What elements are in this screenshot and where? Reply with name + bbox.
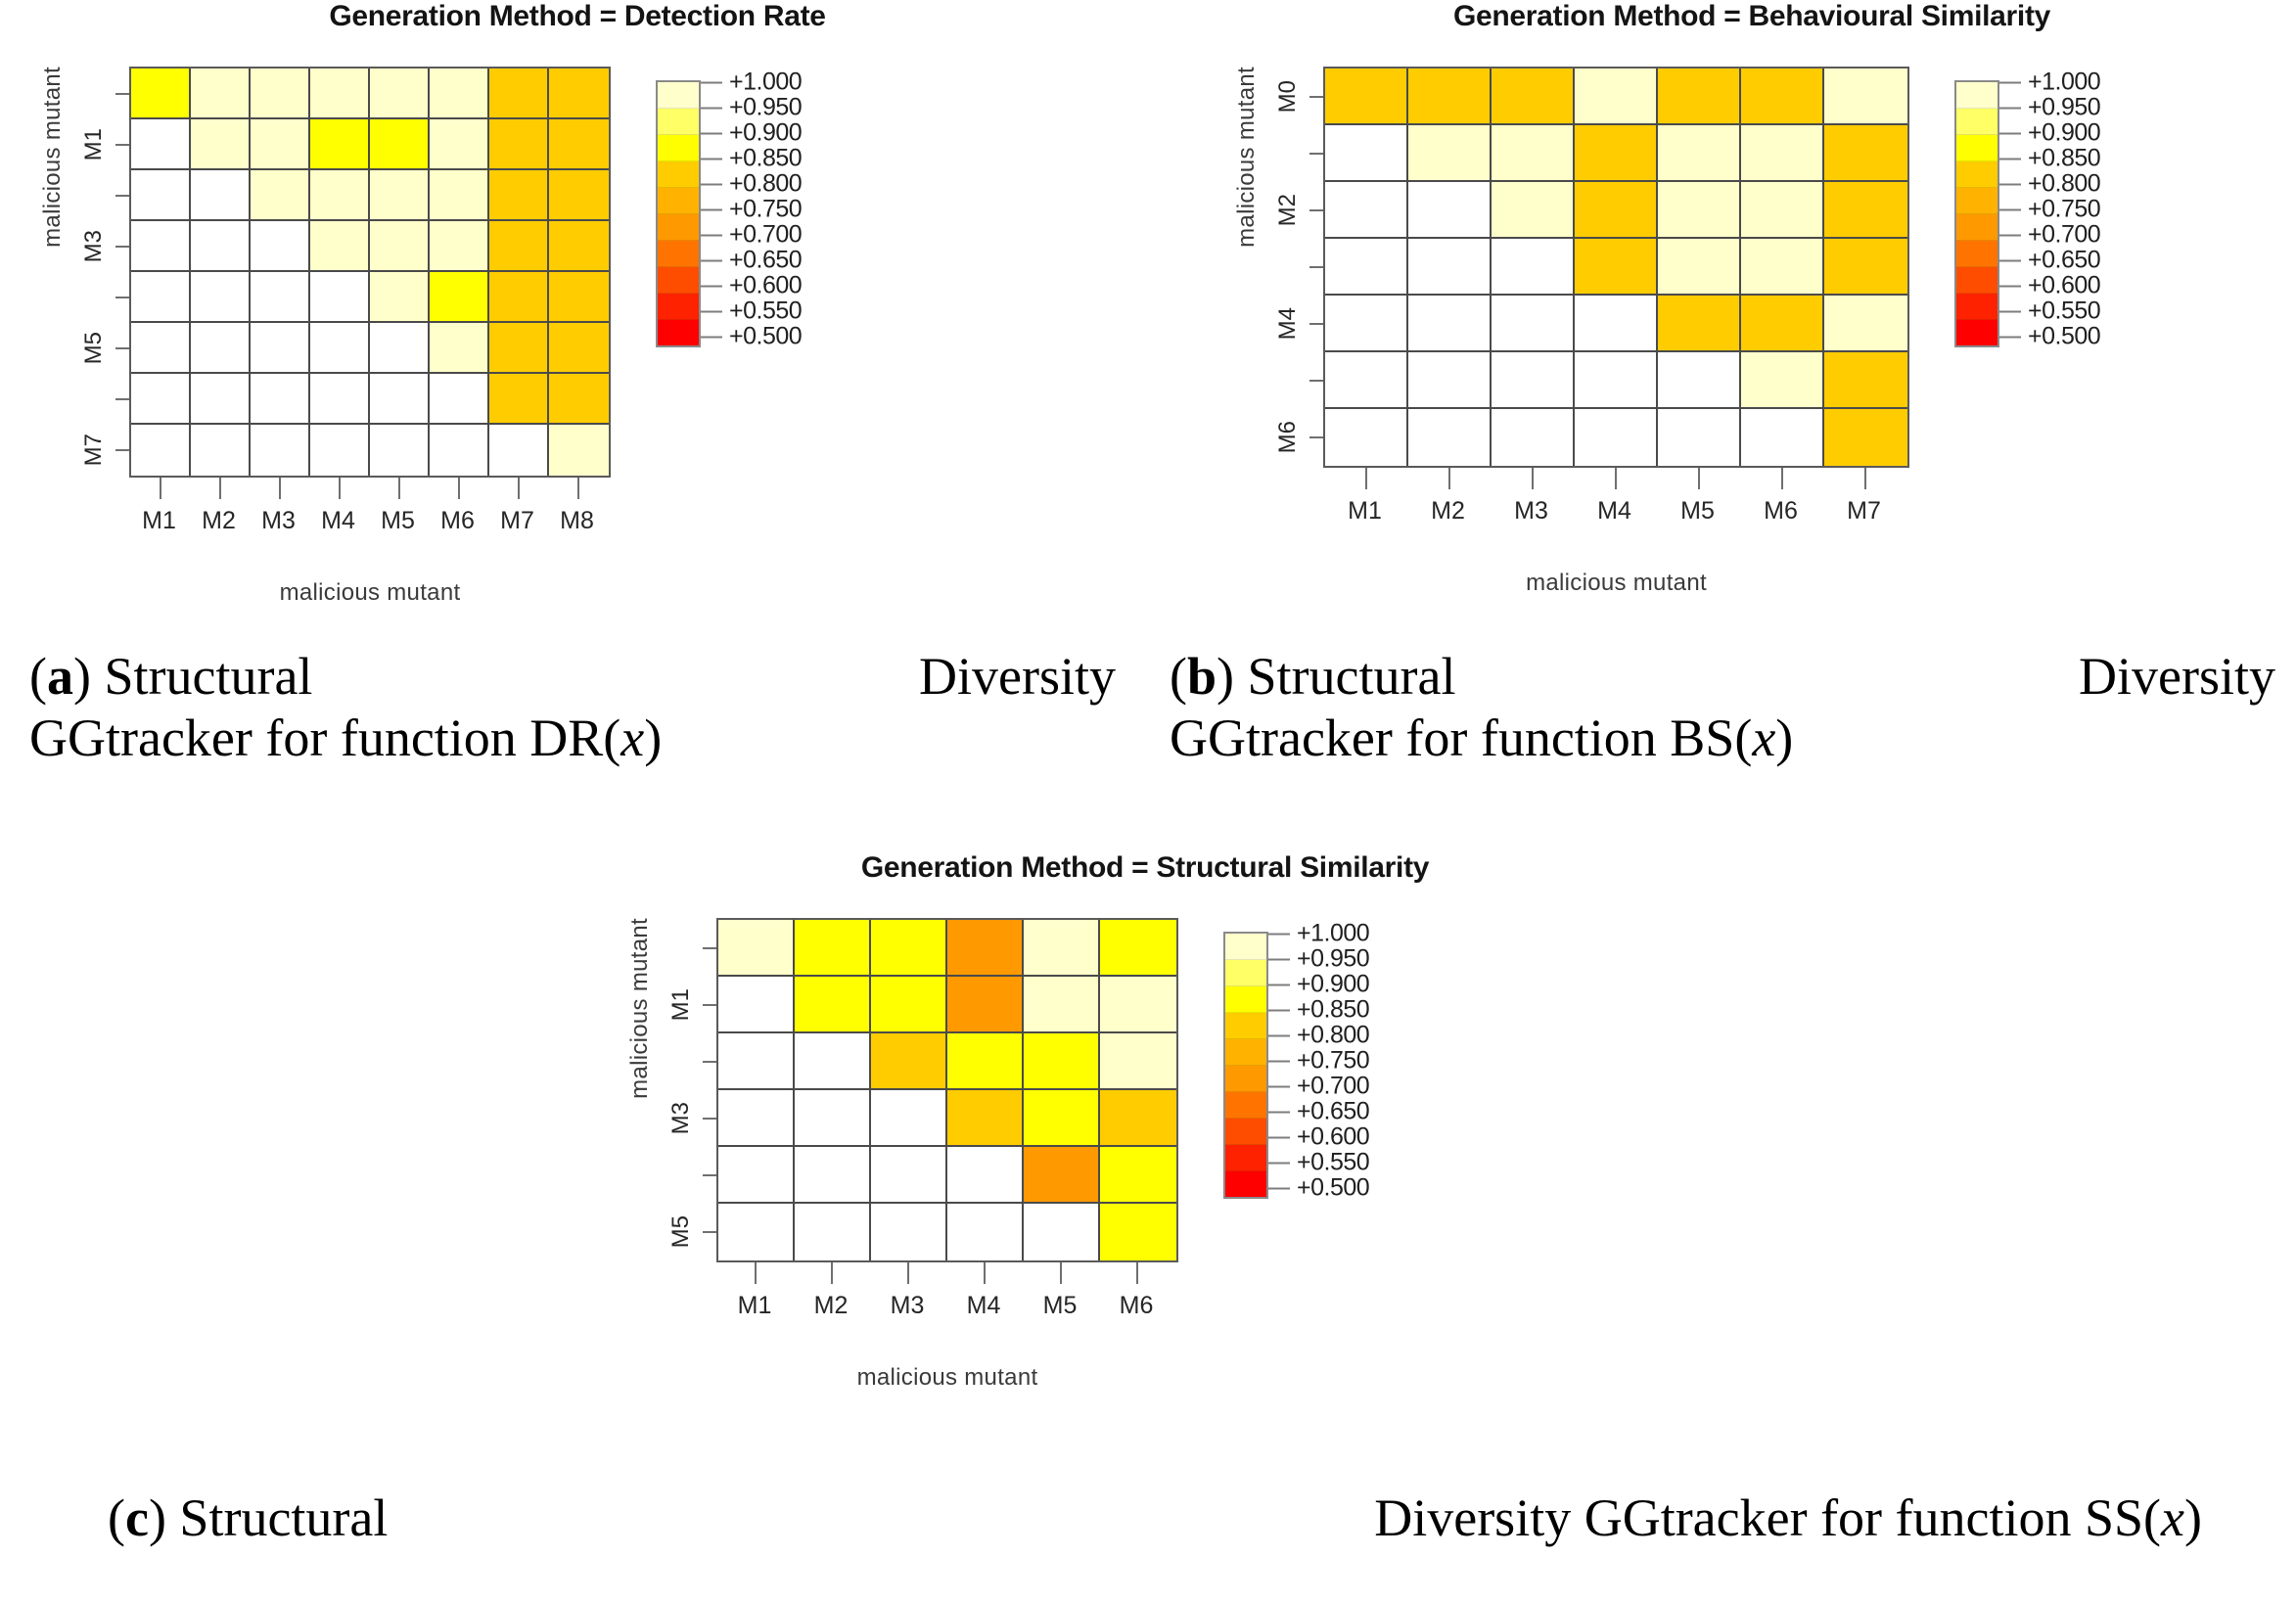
- x-tick-label: M6: [440, 507, 475, 535]
- legend-tick-label: +0.500: [1297, 1174, 1369, 1203]
- heatmap-cell: [370, 170, 430, 221]
- y-tick-label: M5: [67, 323, 112, 374]
- y-tick-column-b: M0M2M4M6: [1261, 67, 1323, 466]
- heatmap-cell: [549, 374, 609, 425]
- x-tick-label: M1: [142, 507, 176, 535]
- heatmap-cell: [1741, 239, 1824, 296]
- legend-tick-mark: [1268, 1060, 1290, 1062]
- heatmap-cell: [1492, 125, 1575, 182]
- heatmap-cell: [1024, 1204, 1100, 1260]
- heatmap-cell: [1325, 409, 1408, 466]
- heatmap-cell: [191, 69, 251, 119]
- heatmap-cell: [191, 323, 251, 374]
- legend-swatch: [1956, 188, 1998, 214]
- heatmap-cell: [251, 272, 310, 323]
- heatmap-cell: [549, 425, 609, 476]
- y-tick-label: [1261, 239, 1306, 296]
- x-tick-label: M6: [1120, 1292, 1154, 1320]
- legend-tick-label: +0.700: [1297, 1073, 1369, 1101]
- legend-tick-mark: [1268, 1034, 1290, 1036]
- heatmap-cell: [1325, 182, 1408, 239]
- x-tick-label: M4: [1597, 497, 1631, 526]
- heatmap-cell: [310, 374, 370, 425]
- y-tick-mark: [703, 1231, 716, 1233]
- legend-tick-label: +0.950: [1297, 945, 1369, 974]
- heatmap-cell: [1575, 352, 1658, 409]
- heatmap-cell: [191, 221, 251, 272]
- x-tick-mark: [1532, 468, 1534, 489]
- heatmap-cell: [795, 1033, 871, 1090]
- heatmap-grid-b: [1323, 67, 1909, 468]
- heatmap-cell: [131, 323, 191, 374]
- legend-swatch: [658, 135, 699, 161]
- chart-panel-b: Generation Method = Behavioural Similari…: [1233, 0, 2271, 597]
- heatmap-cell: [131, 272, 191, 323]
- legend-swatch: [1225, 1119, 1266, 1145]
- y-tick-mark: [1309, 323, 1323, 325]
- legend-swatch: [658, 161, 699, 188]
- x-tick-mark: [907, 1262, 909, 1284]
- heatmap-cell: [131, 425, 191, 476]
- heatmap-cell: [1575, 182, 1658, 239]
- heatmap-cell: [1325, 239, 1408, 296]
- heatmap-cell: [251, 425, 310, 476]
- y-tick-label: M7: [67, 425, 112, 476]
- heatmap-cell: [1492, 352, 1575, 409]
- legend-tick-label: +0.600: [1297, 1123, 1369, 1152]
- legend-tick-mark: [701, 259, 722, 261]
- plot-title-b: Generation Method = Behavioural Similari…: [1233, 0, 2271, 33]
- x-tick-mark: [1781, 468, 1783, 489]
- heatmap-cell: [1408, 409, 1492, 466]
- legend-swatch: [1225, 1039, 1266, 1066]
- x-tick-mark: [1615, 468, 1617, 489]
- heatmap-cell: [489, 119, 549, 170]
- heatmap-cell: [131, 69, 191, 119]
- legend-swatch: [1956, 241, 1998, 267]
- y-tick-mark: [703, 1061, 716, 1063]
- heatmap-cell: [795, 977, 871, 1033]
- heatmap-cell: [370, 272, 430, 323]
- x-axis-ticks-b: [1323, 468, 1906, 497]
- caption-a-line1-right: Diversity: [919, 646, 1116, 708]
- heatmap-cell: [1100, 1033, 1176, 1090]
- legend-tick-label: +0.850: [729, 145, 802, 173]
- legend-tick-mark: [1268, 1111, 1290, 1113]
- x-tick-label: M5: [1680, 497, 1715, 526]
- legend-tick-mark: [701, 132, 722, 134]
- heatmap-cell: [1024, 1090, 1100, 1147]
- y-tick-mark: [1309, 209, 1323, 211]
- heatmap-cell: [131, 170, 191, 221]
- y-tick-label: M3: [67, 221, 112, 272]
- legend-tick-mark: [1268, 1162, 1290, 1164]
- heatmap-cell: [370, 323, 430, 374]
- y-tick-mark: [1309, 266, 1323, 268]
- heatmap-cell: [191, 425, 251, 476]
- heatmap-cell: [1658, 409, 1741, 466]
- legend-tick-mark: [701, 310, 722, 312]
- x-tick-label: M2: [202, 507, 236, 535]
- y-tick-mark: [115, 144, 129, 146]
- heatmap-cell: [1408, 69, 1492, 125]
- x-tick-mark: [984, 1262, 986, 1284]
- heatmap-cell: [718, 1204, 795, 1260]
- y-axis-label-a: malicious mutant: [39, 67, 67, 257]
- heatmap-cell: [1100, 1204, 1176, 1260]
- heatmap-cell: [718, 977, 795, 1033]
- legend-colorbar-b: [1954, 80, 1999, 347]
- x-tick-label: M3: [1514, 497, 1548, 526]
- legend-ticklabels-b: +1.000+0.950+0.900+0.850+0.800+0.750+0.7…: [1999, 80, 2156, 339]
- caption-b-line1-right: Diversity: [2079, 646, 2275, 708]
- heatmap-cell: [1658, 125, 1741, 182]
- legend-tick-mark: [1999, 208, 2021, 210]
- legend-swatch: [1956, 109, 1998, 135]
- heatmap-cell: [370, 69, 430, 119]
- legend-swatch: [658, 214, 699, 241]
- heatmap-cell: [947, 1090, 1024, 1147]
- y-tick-mark: [703, 1118, 716, 1120]
- legend-tick-mark: [701, 336, 722, 338]
- legend-tick-label: +0.850: [2028, 145, 2100, 173]
- chart-panel-c: Generation Method = Structural Similarit…: [626, 851, 1664, 1392]
- heatmap-cell: [1741, 69, 1824, 125]
- figure-container: Generation Method = Detection Rate malic…: [0, 0, 2296, 1602]
- heatmap-cell: [1824, 239, 1907, 296]
- y-tick-label: [654, 920, 699, 977]
- caption-b-line2: GGtracker for function BS(x): [1170, 708, 2275, 769]
- x-tick-mark: [219, 478, 221, 499]
- heatmap-cell: [310, 221, 370, 272]
- plot-title-a: Generation Method = Detection Rate: [39, 0, 1116, 33]
- heatmap-cell: [1492, 182, 1575, 239]
- legend-tick-mark: [1268, 958, 1290, 960]
- heatmap-cell: [549, 272, 609, 323]
- heatmap-cell: [131, 119, 191, 170]
- heatmap-cell: [549, 119, 609, 170]
- heatmap-cell: [251, 221, 310, 272]
- heatmap-cell: [1100, 1147, 1176, 1204]
- legend-swatch: [1956, 294, 1998, 320]
- heatmap-cell: [370, 425, 430, 476]
- legend-tick-label: +1.000: [2028, 69, 2100, 97]
- legend-tick-mark: [701, 208, 722, 210]
- legend-tick-label: +0.650: [2028, 247, 2100, 275]
- heatmap-cell: [947, 1204, 1024, 1260]
- legend-swatch: [1225, 934, 1266, 960]
- legend-tick-mark: [701, 183, 722, 185]
- heatmap-cell: [1658, 296, 1741, 352]
- heatmap-cell: [310, 170, 370, 221]
- legend-tick-mark: [1268, 1085, 1290, 1087]
- legend-tick-label: +0.900: [2028, 119, 2100, 148]
- color-legend-c: +1.000+0.950+0.900+0.850+0.800+0.750+0.7…: [1223, 918, 1425, 1199]
- legend-swatch: [1225, 986, 1266, 1013]
- heatmap-cell: [489, 272, 549, 323]
- legend-tick-mark: [1999, 285, 2021, 287]
- y-tick-label: M3: [654, 1090, 699, 1147]
- legend-tick-mark: [1268, 984, 1290, 985]
- legend-tick-label: +0.900: [729, 119, 802, 148]
- legend-tick-mark: [1999, 158, 2021, 160]
- x-tick-mark: [458, 478, 460, 499]
- heatmap-cell: [489, 374, 549, 425]
- heatmap-cell: [1658, 69, 1741, 125]
- legend-swatch: [1956, 214, 1998, 241]
- subfigure-caption-b: (b) Structural Diversity GGtracker for f…: [1170, 646, 2275, 769]
- legend-tick-label: +0.500: [2028, 323, 2100, 351]
- y-tick-label: M1: [654, 977, 699, 1033]
- heatmap-cell: [871, 920, 947, 977]
- heatmap-cell: [251, 69, 310, 119]
- y-tick-mark: [115, 93, 129, 95]
- heatmap-cell: [430, 221, 489, 272]
- legend-tick-mark: [701, 234, 722, 236]
- x-tick-mark: [1365, 468, 1367, 489]
- legend-colorbar-c: [1223, 932, 1268, 1199]
- heatmap-cell: [251, 323, 310, 374]
- x-tick-mark: [577, 478, 579, 499]
- x-tick-mark: [1448, 468, 1450, 489]
- legend-swatch: [658, 267, 699, 294]
- y-tick-label: [67, 170, 112, 221]
- y-axis-label-b: malicious mutant: [1233, 67, 1261, 257]
- heatmap-cell: [1658, 239, 1741, 296]
- legend-swatch: [1956, 267, 1998, 294]
- legend-swatch: [658, 188, 699, 214]
- x-tick-label: M1: [1348, 497, 1382, 526]
- legend-tick-label: +0.750: [2028, 196, 2100, 224]
- legend-tick-mark: [1999, 81, 2021, 83]
- heatmap-cell: [489, 69, 549, 119]
- heatmap-cell: [871, 1090, 947, 1147]
- legend-tick-label: +0.850: [1297, 996, 1369, 1025]
- legend-tick-label: +0.650: [1297, 1098, 1369, 1126]
- legend-tick-label: +0.700: [729, 221, 802, 250]
- x-tick-label: M7: [500, 507, 534, 535]
- legend-tick-mark: [701, 158, 722, 160]
- heatmap-cell: [310, 119, 370, 170]
- caption-c-line1-right: Diversity GGtracker for function SS(x): [1374, 1488, 2202, 1549]
- legend-tick-label: +0.900: [1297, 971, 1369, 999]
- y-tick-mark: [115, 347, 129, 349]
- heatmap-cell: [718, 920, 795, 977]
- heatmap-cell: [370, 221, 430, 272]
- heatmap-grid-a: [129, 67, 611, 478]
- heatmap-cell: [489, 425, 549, 476]
- chart-panel-a: Generation Method = Detection Rate malic…: [39, 0, 1116, 607]
- heatmap-cell: [1408, 125, 1492, 182]
- y-tick-column-a: M1M3M5M7: [67, 67, 129, 476]
- heatmap-cell: [310, 323, 370, 374]
- heatmap-cell: [1408, 239, 1492, 296]
- legend-swatch: [658, 82, 699, 109]
- legend-swatch: [1956, 320, 1998, 345]
- heatmap-cell: [131, 374, 191, 425]
- y-tick-label: [654, 1033, 699, 1090]
- legend-tick-label: +0.800: [2028, 170, 2100, 199]
- y-tick-mark: [115, 297, 129, 298]
- heatmap-cell: [1824, 409, 1907, 466]
- legend-swatch: [658, 109, 699, 135]
- heatmap-cell: [1741, 125, 1824, 182]
- y-tick-mark: [703, 947, 716, 949]
- y-tick-mark: [1309, 436, 1323, 438]
- legend-tick-mark: [1268, 1009, 1290, 1011]
- heatmap-cell: [1024, 1147, 1100, 1204]
- heatmap-cell: [1575, 296, 1658, 352]
- x-tick-mark: [339, 478, 341, 499]
- heatmap-cell: [1575, 125, 1658, 182]
- heatmap-cell: [1575, 239, 1658, 296]
- heatmap-cell: [1100, 1090, 1176, 1147]
- y-tick-mark: [1309, 153, 1323, 155]
- legend-colorbar-a: [656, 80, 701, 347]
- legend-tick-mark: [1268, 1136, 1290, 1138]
- heatmap-cell: [795, 920, 871, 977]
- x-tick-label: M5: [1043, 1292, 1078, 1320]
- heatmap-cell: [549, 323, 609, 374]
- legend-tick-label: +0.550: [729, 298, 802, 326]
- x-tick-mark: [755, 1262, 757, 1284]
- legend-swatch: [658, 320, 699, 345]
- x-tick-mark: [1060, 1262, 1062, 1284]
- x-tick-label: M2: [814, 1292, 849, 1320]
- y-axis-label-c: malicious mutant: [626, 918, 654, 1109]
- legend-tick-mark: [1268, 1187, 1290, 1189]
- y-tick-label: M5: [654, 1204, 699, 1260]
- heatmap-cell: [718, 1090, 795, 1147]
- legend-tick-label: +0.500: [729, 323, 802, 351]
- heatmap-cell: [795, 1090, 871, 1147]
- y-tick-label: [1261, 352, 1306, 409]
- y-tick-mark: [1309, 380, 1323, 382]
- heatmap-cell: [1824, 182, 1907, 239]
- heatmap-cell: [1408, 352, 1492, 409]
- y-tick-label: M6: [1261, 409, 1306, 466]
- heatmap-cell: [1492, 409, 1575, 466]
- heatmap-cell: [1024, 1033, 1100, 1090]
- legend-tick-mark: [701, 81, 722, 83]
- heatmap-cell: [718, 1147, 795, 1204]
- heatmap-cell: [1741, 409, 1824, 466]
- x-tick-label: M4: [967, 1292, 1001, 1320]
- heatmap-cell: [489, 221, 549, 272]
- heatmap-cell: [430, 272, 489, 323]
- heatmap-cell: [489, 323, 549, 374]
- legend-tick-label: +0.800: [1297, 1022, 1369, 1050]
- legend-tick-label: +0.950: [729, 94, 802, 122]
- y-tick-mark: [115, 195, 129, 197]
- legend-tick-mark: [1268, 933, 1290, 935]
- x-tick-mark: [398, 478, 400, 499]
- heatmap-cell: [1741, 182, 1824, 239]
- legend-swatch: [1225, 1013, 1266, 1039]
- legend-swatch: [658, 294, 699, 320]
- legend-swatch: [1225, 1171, 1266, 1197]
- heatmap-cell: [430, 323, 489, 374]
- plot-title-c: Generation Method = Structural Similarit…: [626, 851, 1664, 885]
- x-tick-mark: [1698, 468, 1700, 489]
- heatmap-cell: [1408, 182, 1492, 239]
- heatmap-cell: [370, 374, 430, 425]
- heatmap-cell: [131, 221, 191, 272]
- x-tick-label: M3: [891, 1292, 925, 1320]
- heatmap-cell: [1325, 69, 1408, 125]
- heatmap-cell: [430, 119, 489, 170]
- x-tick-label: M7: [1847, 497, 1881, 526]
- legend-tick-label: +0.700: [2028, 221, 2100, 250]
- legend-tick-mark: [1999, 310, 2021, 312]
- caption-a-line1-left: (a) Structural: [29, 646, 312, 708]
- x-tick-label: M2: [1431, 497, 1465, 526]
- legend-tick-label: +0.650: [729, 247, 802, 275]
- x-axis-title-b: malicious mutant: [1323, 570, 1909, 597]
- heatmap-cell: [947, 920, 1024, 977]
- heatmap-cell: [549, 69, 609, 119]
- x-tick-mark: [518, 478, 520, 499]
- legend-tick-mark: [1999, 259, 2021, 261]
- legend-tick-label: +0.550: [2028, 298, 2100, 326]
- y-tick-mark: [1309, 96, 1323, 98]
- color-legend-b: +1.000+0.950+0.900+0.850+0.800+0.750+0.7…: [1954, 67, 2156, 347]
- heatmap-cell: [795, 1147, 871, 1204]
- legend-tick-mark: [1999, 234, 2021, 236]
- heatmap-cell: [489, 170, 549, 221]
- heatmap-cell: [1575, 69, 1658, 125]
- legend-tick-label: +1.000: [729, 69, 802, 97]
- y-tick-mark: [115, 449, 129, 451]
- y-tick-label: [654, 1147, 699, 1204]
- x-tick-mark: [1864, 468, 1866, 489]
- heatmap-cell: [871, 1204, 947, 1260]
- heatmap-cell: [1100, 920, 1176, 977]
- heatmap-cell: [310, 69, 370, 119]
- heatmap-cell: [1658, 182, 1741, 239]
- x-tick-label: M8: [560, 507, 594, 535]
- heatmap-cell: [1024, 977, 1100, 1033]
- legend-ticklabels-a: +1.000+0.950+0.900+0.850+0.800+0.750+0.7…: [701, 80, 857, 339]
- heatmap-cell: [1024, 920, 1100, 977]
- x-tick-mark: [160, 478, 161, 499]
- legend-swatch: [658, 241, 699, 267]
- legend-tick-label: +0.600: [729, 272, 802, 300]
- heatmap-cell: [191, 272, 251, 323]
- heatmap-cell: [1575, 409, 1658, 466]
- x-axis-title-c: malicious mutant: [716, 1364, 1178, 1392]
- heatmap-cell: [1658, 352, 1741, 409]
- legend-tick-mark: [1999, 183, 2021, 185]
- heatmap-cell: [718, 1033, 795, 1090]
- y-tick-label: M4: [1261, 296, 1306, 352]
- legend-tick-mark: [1999, 132, 2021, 134]
- heatmap-cell: [191, 374, 251, 425]
- y-tick-mark: [115, 246, 129, 248]
- legend-swatch: [1225, 1092, 1266, 1119]
- legend-tick-label: +0.800: [729, 170, 802, 199]
- heatmap-cell: [1492, 239, 1575, 296]
- x-tick-label: M6: [1764, 497, 1798, 526]
- x-tick-label: M5: [381, 507, 415, 535]
- heatmap-cell: [1824, 125, 1907, 182]
- legend-tick-mark: [1999, 336, 2021, 338]
- heatmap-cell: [191, 170, 251, 221]
- x-axis-ticks-a: [129, 478, 607, 507]
- heatmap-cell: [310, 425, 370, 476]
- heatmap-cell: [1824, 352, 1907, 409]
- legend-tick-label: +0.750: [729, 196, 802, 224]
